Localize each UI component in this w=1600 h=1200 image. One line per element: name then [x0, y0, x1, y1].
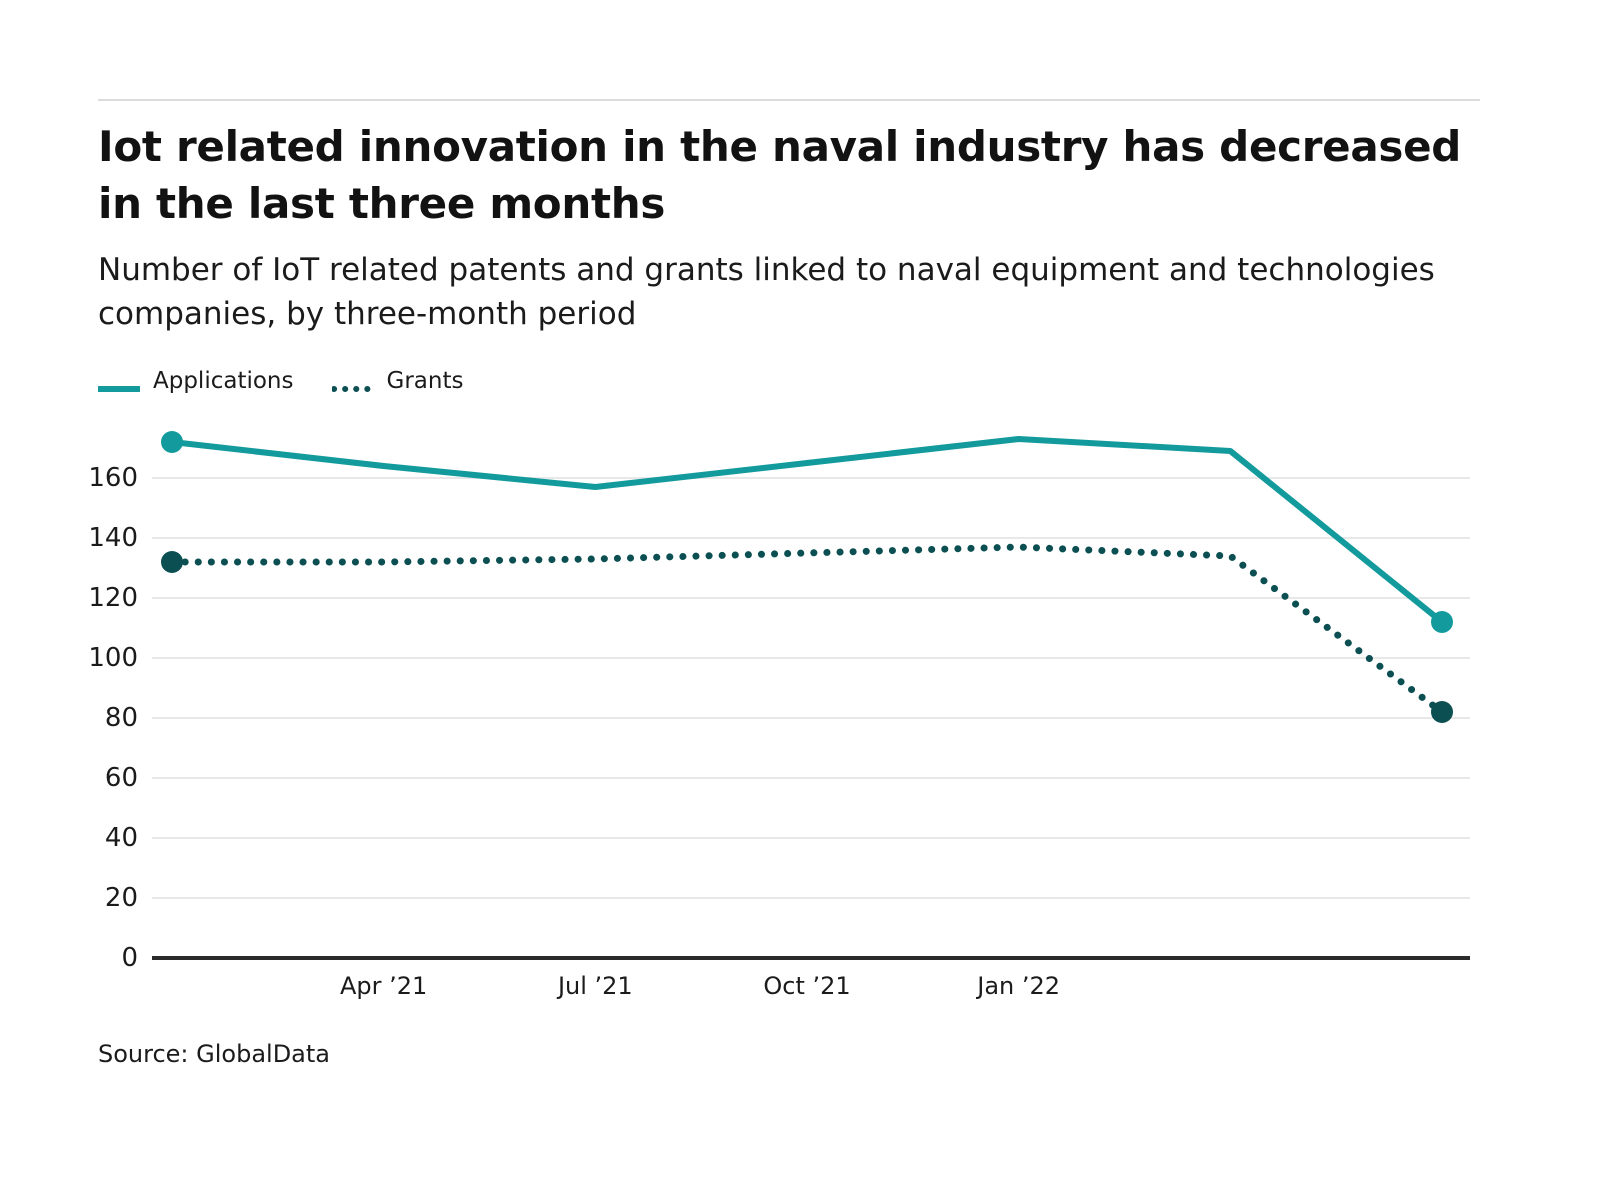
- y-axis-tick-label: 120: [60, 583, 138, 613]
- chart-subtitle: Number of IoT related patents and grants…: [98, 248, 1438, 336]
- chart-legend: Applications Grants: [98, 368, 463, 394]
- legend-label-applications: Applications: [153, 368, 294, 394]
- legend-item-grants[interactable]: Grants: [332, 368, 464, 394]
- x-axis-tick-label: Jul ’21: [558, 972, 633, 1000]
- y-axis-tick-label: 80: [60, 703, 138, 733]
- page-title: Iot related innovation in the naval indu…: [98, 118, 1488, 232]
- chart-page: Iot related innovation in the naval indu…: [0, 0, 1600, 1200]
- y-axis-tick-label: 160: [60, 463, 138, 493]
- legend-label-grants: Grants: [387, 368, 464, 394]
- y-axis-tick-label: 140: [60, 523, 138, 553]
- top-divider: [98, 99, 1480, 101]
- y-axis-tick-label: 40: [60, 823, 138, 853]
- x-axis-tick-label: Oct ’21: [763, 972, 850, 1000]
- y-axis-tick-label: 20: [60, 883, 138, 913]
- x-axis-tick-label: Apr ’21: [340, 972, 427, 1000]
- x-axis-tick-label: Jan ’22: [977, 972, 1060, 1000]
- y-axis-tick-label: 60: [60, 763, 138, 793]
- legend-swatch-grants: [332, 378, 374, 385]
- source-note: Source: GlobalData: [98, 1040, 330, 1068]
- legend-swatch-applications: [98, 378, 140, 384]
- y-axis-tick-label: 100: [60, 643, 138, 673]
- y-axis-tick-label: 0: [60, 943, 138, 973]
- legend-item-applications[interactable]: Applications: [98, 368, 294, 394]
